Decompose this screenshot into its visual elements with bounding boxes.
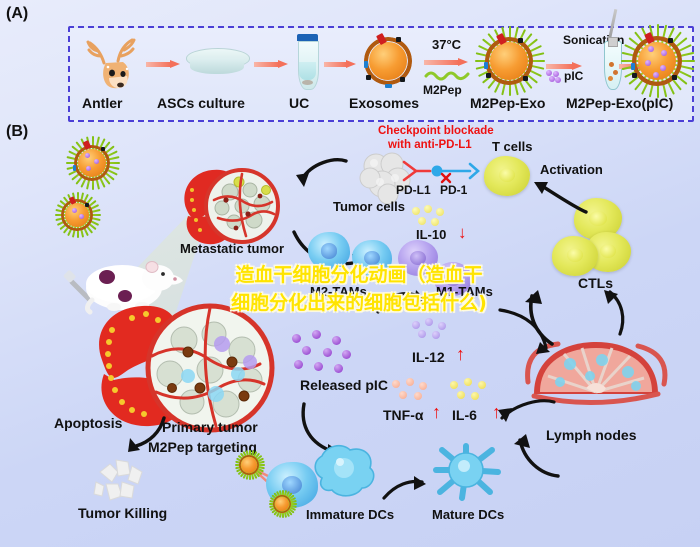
il12-cytokine-dots	[412, 318, 454, 340]
injected-exosome-icon-1	[72, 143, 112, 183]
arrow-exosome-to-m2pep-exo	[424, 58, 468, 67]
antler-deer-icon	[82, 33, 144, 91]
metastatic-tumor-label: Metastatic tumor	[180, 242, 284, 255]
arrow-apoptosis	[126, 416, 170, 454]
m1-tams-label: M1-TAMs	[436, 285, 493, 298]
ctl-cell-icon	[552, 236, 598, 276]
il12-label: IL-12	[412, 350, 445, 364]
targeting-exosome-icon-2	[272, 494, 292, 514]
m1-tam-cell-icon-1	[398, 240, 438, 276]
step-label-m2pep-exo: M2Pep-Exo	[470, 96, 545, 110]
step-label-m2pep-exo-pic: M2Pep-Exo(pIC)	[566, 96, 673, 110]
tumor-killing-debris-icon	[90, 452, 156, 504]
step-label-uc: UC	[289, 96, 309, 110]
released-pic-label: Released pIC	[300, 378, 388, 392]
mature-dcs-label: Mature DCs	[432, 508, 504, 521]
m2-tam-cell-icon-1	[308, 232, 350, 270]
primary-tumor-label: Primary tumor	[162, 420, 258, 434]
ascs-culture-dish-icon	[186, 48, 248, 78]
arrow-metastatic-to-tumor-cells	[290, 155, 350, 195]
tumor-cells-label: Tumor cells	[333, 200, 405, 213]
t-cell-icon-1	[484, 156, 530, 196]
exosome-particle-icon	[362, 35, 414, 87]
checkpoint-blockade-line1: Checkpoint blockade	[378, 126, 494, 138]
metastatic-tumor-icon	[178, 160, 288, 252]
m2pep-exosome-icon	[483, 35, 535, 87]
t-cells-label: T cells	[492, 140, 532, 153]
arrow-dc-maturation	[382, 478, 430, 506]
arrow-culture-to-uc	[254, 60, 288, 69]
step-label-exosomes: Exosomes	[349, 96, 419, 110]
tnf-alpha-label: TNF-α	[383, 408, 423, 422]
step-label-antler: Antler	[82, 96, 122, 110]
apoptosis-label: Apoptosis	[54, 416, 122, 430]
tnf-alpha-up-arrow: ↑	[432, 403, 441, 421]
step-label-ascs-culture: ASCs culture	[157, 96, 245, 110]
pd-l1-label: PD-L1	[396, 184, 431, 196]
pic-cluster-icon	[546, 70, 560, 82]
arrow-cytokines-to-lymph	[496, 306, 552, 354]
arrow-m2-to-m1-polarization	[376, 286, 428, 320]
m2pep-label: M2Pep	[423, 84, 462, 96]
il12-up-arrow: ↑	[456, 345, 465, 363]
il10-down-arrow: ↓	[458, 224, 467, 241]
il10-label: IL-10	[416, 228, 446, 241]
immature-dcs-label: Immature DCs	[306, 508, 394, 521]
m2-tams-label: M2-TAMs	[310, 285, 367, 298]
mature-dc-icon	[428, 440, 506, 504]
arrow-lymph-to-ctls-right	[594, 288, 638, 338]
tnf-alpha-cytokine-dots	[392, 378, 434, 402]
arrow-mature-dc-loop	[496, 396, 558, 430]
m2pep-exo-pic-icon	[630, 34, 684, 88]
uc-tube-icon	[297, 34, 318, 88]
figure-canvas: (A)	[0, 0, 700, 547]
temperature-label: 37°C	[432, 38, 461, 51]
checkpoint-blockade-line2: with anti-PD-L1	[388, 140, 472, 152]
m2-tam-cell-icon-2	[352, 240, 392, 276]
arrow-uc-to-exosomes	[324, 60, 356, 69]
pd-1-label: PD-1	[440, 184, 467, 196]
il6-label: IL-6	[452, 408, 477, 422]
arrow-antler-to-culture	[146, 60, 180, 69]
tumor-killing-label: Tumor Killing	[78, 506, 167, 520]
arrow-activation	[528, 176, 590, 218]
lymph-nodes-label: Lymph nodes	[546, 428, 637, 442]
released-pic-dots	[290, 330, 360, 380]
il10-cytokine-dots	[412, 205, 452, 227]
panel-a-tag: (A)	[6, 6, 28, 22]
pic-label: pIC	[564, 70, 583, 82]
il6-cytokine-dots	[450, 378, 496, 402]
targeting-exosome-icon-1	[238, 454, 260, 476]
m2pep-peptide-icon	[424, 68, 472, 80]
panel-b-tag: (B)	[6, 124, 28, 140]
immature-dc-icon	[308, 440, 380, 502]
activation-label: Activation	[540, 163, 603, 176]
